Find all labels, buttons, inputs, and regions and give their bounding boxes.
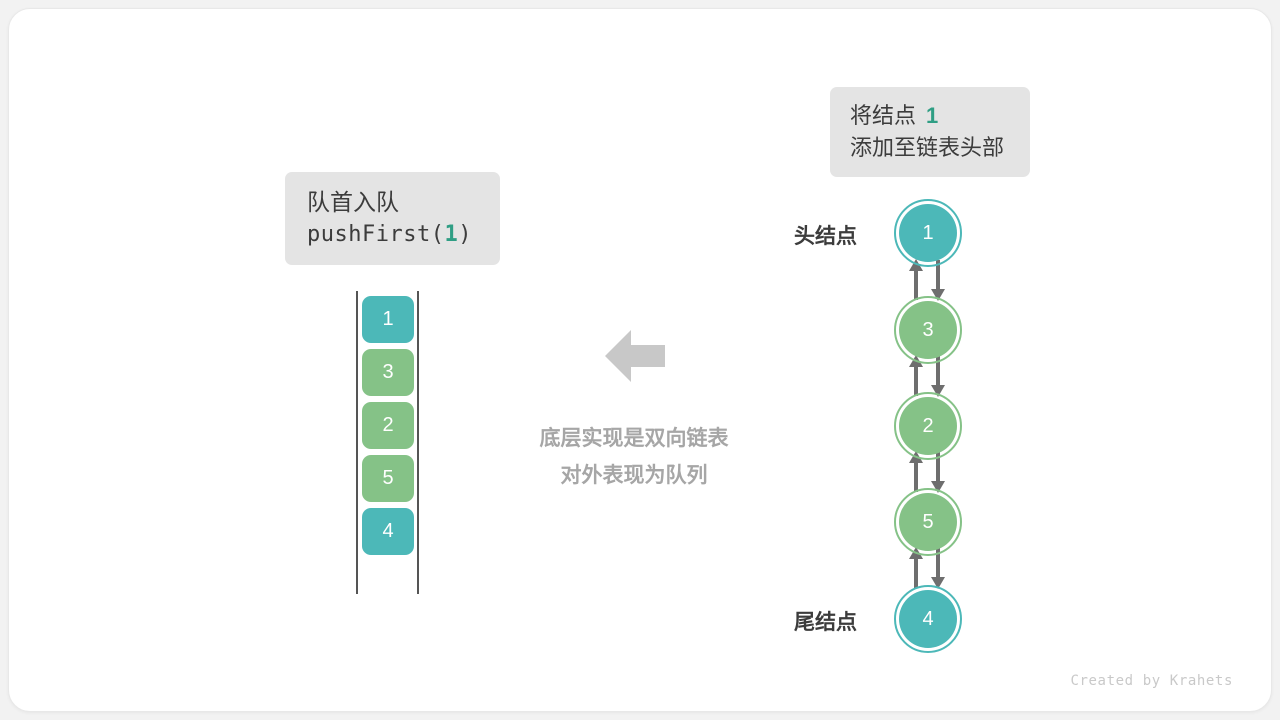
- callout-node-action: 将结点1 添加至链表头部: [830, 87, 1030, 177]
- list-node: 2: [899, 397, 957, 455]
- queue-cell: 3: [362, 349, 414, 396]
- queue-rail-right: [417, 291, 419, 594]
- code-suffix: ): [458, 222, 472, 247]
- queue-cell-value: 5: [382, 467, 393, 490]
- caption-line-2: 对外表现为队列: [479, 458, 789, 495]
- queue-cell: 4: [362, 508, 414, 555]
- callout-operation-title: 队首入队: [307, 186, 500, 219]
- queue-cell: 1: [362, 296, 414, 343]
- list-node-value: 5: [922, 511, 933, 534]
- callout-node-line1-value: 1: [926, 103, 938, 128]
- queue-cell: 2: [362, 402, 414, 449]
- list-node-value: 1: [922, 222, 933, 245]
- tail-node-label: 尾结点: [794, 606, 857, 636]
- footer-credit: Created by Krahets: [1070, 673, 1233, 689]
- list-node-value: 4: [922, 608, 933, 631]
- callout-node-line2: 添加至链表头部: [850, 132, 1030, 164]
- queue-rail-left: [356, 291, 358, 594]
- code-prefix: pushFirst(: [307, 222, 444, 247]
- queue-cell-value: 3: [382, 361, 393, 384]
- list-node-value: 3: [922, 319, 933, 342]
- queue-cell-value: 2: [382, 414, 393, 437]
- head-node-label: 头结点: [794, 220, 857, 250]
- callout-node-line1: 将结点1: [850, 100, 1030, 132]
- list-node-value: 2: [922, 415, 933, 438]
- list-node: 4: [899, 590, 957, 648]
- caption-line-1: 底层实现是双向链表: [479, 421, 789, 458]
- callout-operation: 队首入队 pushFirst(1): [285, 172, 500, 265]
- center-caption: 底层实现是双向链表 对外表现为队列: [479, 421, 789, 495]
- queue-cell-value: 1: [382, 308, 393, 331]
- list-node: 1: [899, 204, 957, 262]
- callout-operation-code: pushFirst(1): [307, 219, 500, 251]
- left-arrow-icon: [605, 327, 665, 385]
- code-value: 1: [444, 222, 458, 247]
- content-card: 队首入队 pushFirst(1) 将结点1 添加至链表头部 1 3 2 5: [8, 8, 1272, 712]
- queue-cell-value: 4: [382, 520, 393, 543]
- queue-cell: 5: [362, 455, 414, 502]
- callout-node-line1-prefix: 将结点: [850, 103, 916, 128]
- list-node: 3: [899, 301, 957, 359]
- list-node: 5: [899, 493, 957, 551]
- diagram-canvas: 队首入队 pushFirst(1) 将结点1 添加至链表头部 1 3 2 5: [0, 0, 1280, 720]
